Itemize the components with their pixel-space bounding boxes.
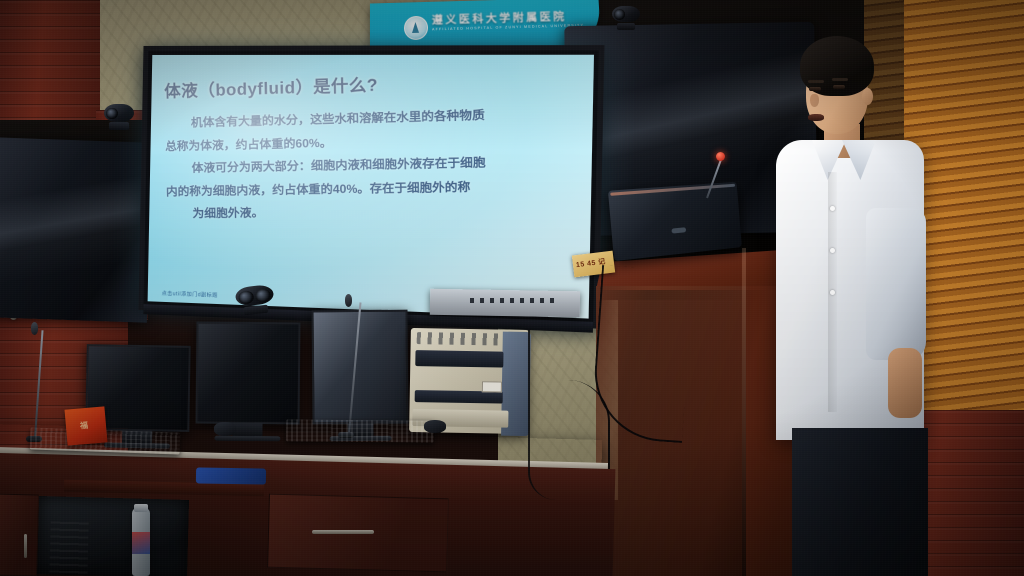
presenter xyxy=(770,36,930,536)
mouse-center[interactable] xyxy=(214,422,236,436)
slide-line: 体液可分为两大部分：细胞内液和细胞外液存在于细胞 xyxy=(166,156,571,176)
laptop[interactable] xyxy=(608,182,742,261)
monitor-center[interactable] xyxy=(196,322,301,425)
water-bottle-cap xyxy=(134,504,148,512)
presenter-brow xyxy=(808,80,824,83)
monitor-center-base xyxy=(214,436,281,442)
cabinet-door-left[interactable] xyxy=(0,493,39,576)
water-bottle-label xyxy=(132,532,150,554)
shirt-button xyxy=(830,290,835,295)
presenter-sleeve xyxy=(866,208,926,360)
slide-content: 体液（bodyfluid）是什么? 机体含有大量的水分，这些水和溶解在水里的各种… xyxy=(148,55,594,319)
slide-inner: 体液（bodyfluid）是什么? 机体含有大量的水分，这些水和溶解在水里的各种… xyxy=(148,55,594,311)
cabinet-handle-left[interactable] xyxy=(24,534,27,558)
cable-right-wall xyxy=(528,330,556,500)
slide-line: 机体含有大量的水分，这些水和溶解在水里的各种物质 xyxy=(165,107,570,130)
monitor-right[interactable] xyxy=(312,310,409,425)
shirt-button xyxy=(830,206,835,211)
presentation-room-photo: 遵义医科大学附属医院 AFFILIATED HOSPITAL OF ZUNYI … xyxy=(0,0,1024,576)
cabinet-handle-right[interactable] xyxy=(312,530,374,534)
camera-center-right-icon xyxy=(612,6,640,30)
camera-left-wall-icon xyxy=(104,104,134,130)
shirt-button xyxy=(830,248,835,253)
camera-desk-webcam-icon xyxy=(235,284,276,316)
equipment-rack xyxy=(430,289,580,318)
equipment-rack-leds xyxy=(470,298,560,303)
office-printer[interactable] xyxy=(409,328,529,434)
mouse-right[interactable] xyxy=(424,420,446,433)
blue-cloth xyxy=(196,467,266,484)
slide-line: 总称为体液，约占体重的60%。 xyxy=(165,131,570,152)
slide-line: 内的称为细胞内液，约占体重的40%。存在于细胞外的称 xyxy=(166,180,571,198)
podium-mic-indicator-icon xyxy=(716,152,725,161)
camera-stand xyxy=(617,23,635,30)
presenter-trousers xyxy=(792,428,928,576)
gooseneck-mic-far-left-head xyxy=(31,322,38,335)
podium-edge xyxy=(742,248,746,576)
presenter-mouth xyxy=(808,114,824,121)
monitor-right-screen xyxy=(312,310,409,425)
printer-label xyxy=(482,381,502,392)
monitor-center-screen xyxy=(196,322,301,425)
presenter-ear xyxy=(862,88,873,105)
display-left-sheen xyxy=(0,137,153,322)
main-presentation-screen: 体液（bodyfluid）是什么? 机体含有大量的水分，这些水和溶解在水里的各种… xyxy=(138,45,604,329)
presenter-eye xyxy=(809,87,821,91)
keyboard-right[interactable] xyxy=(286,419,434,442)
printer-output-slot xyxy=(415,350,503,368)
pc-tower xyxy=(49,522,88,576)
slide-title: 体液（bodyfluid）是什么? xyxy=(164,65,569,103)
camera-stand xyxy=(109,122,128,130)
gooseneck-mic-center-head xyxy=(345,294,352,307)
presenter-arm xyxy=(888,348,922,418)
presenter-nose xyxy=(810,94,819,107)
slide-line: 为细胞外液。 xyxy=(166,204,571,221)
display-left-wall xyxy=(0,137,153,322)
printer-control-panel[interactable] xyxy=(417,332,503,345)
presenter-brow xyxy=(832,78,848,81)
red-packet-glyph: 福 xyxy=(79,420,88,432)
presenter-eye xyxy=(833,85,845,89)
slide-body: 机体含有大量的水分，这些水和溶解在水里的各种物质 总称为体液，约占体重的60%。… xyxy=(165,107,572,220)
red-packet: 福 xyxy=(65,406,108,445)
